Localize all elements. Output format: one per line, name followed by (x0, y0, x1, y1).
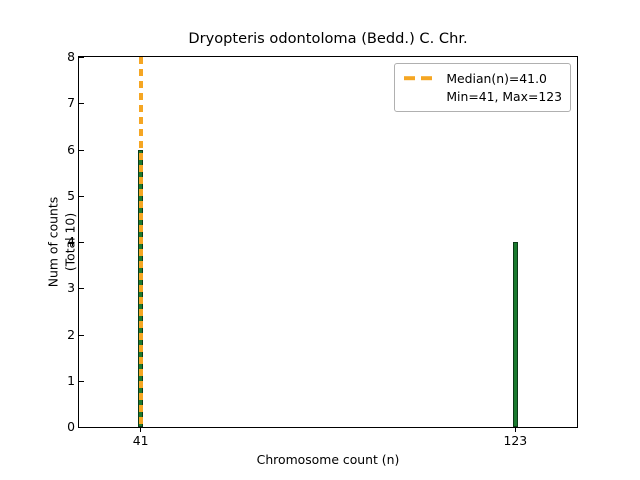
y-tick-mark (79, 103, 84, 104)
y-tick-mark (79, 150, 84, 151)
legend-label: Min=41, Max=123 (446, 89, 562, 104)
y-tick-label: 0 (67, 421, 75, 433)
chart-title: Dryopteris odontoloma (Bedd.) C. Chr. (78, 30, 578, 47)
y-tick-label: 8 (67, 51, 75, 63)
x-tick-mark (140, 427, 141, 432)
x-tick-label: 123 (503, 433, 527, 448)
legend-label: Median(n)=41.0 (446, 71, 547, 86)
dashed-line-icon (403, 69, 437, 87)
legend-item-minmax: Min=41, Max=123 (403, 87, 562, 105)
y-tick-mark (79, 242, 84, 243)
y-tick-label: 7 (67, 97, 75, 109)
y-tick-mark (79, 335, 84, 336)
y-tick-label: 2 (67, 328, 75, 340)
x-tick-mark (515, 427, 516, 432)
y-axis-label-line1: Num of counts (45, 197, 60, 287)
x-tick-label: 41 (133, 433, 149, 448)
plot-area: 0 1 2 3 4 5 6 7 (78, 56, 578, 428)
y-tick-label: 1 (67, 375, 75, 387)
y-tick-mark (79, 288, 84, 289)
bar-123[interactable] (513, 242, 518, 427)
y-tick-mark (79, 57, 84, 58)
matplotlib-figure: Dryopteris odontoloma (Bedd.) C. Chr. 0 … (0, 0, 640, 480)
y-tick-mark (79, 381, 84, 382)
median-line (139, 57, 143, 427)
y-axis-label: Num of counts (Total 10) (45, 197, 78, 287)
y-tick-label: 6 (67, 143, 75, 155)
legend: Median(n)=41.0 Min=41, Max=123 (394, 63, 571, 112)
y-tick-mark (79, 196, 84, 197)
y-tick-mark (79, 427, 84, 428)
x-axis-label: Chromosome count (n) (78, 452, 578, 467)
legend-item-median: Median(n)=41.0 (403, 69, 562, 87)
y-axis-label-line2: (Total 10) (62, 197, 79, 287)
